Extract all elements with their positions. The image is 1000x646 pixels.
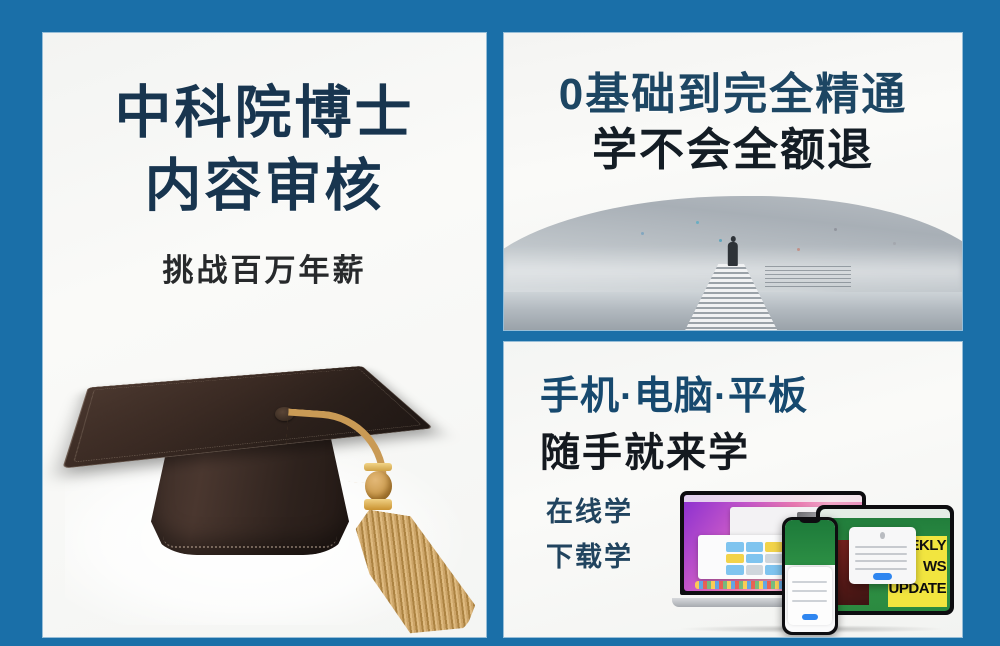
sheet-line [792,600,826,602]
tablet-topbar [820,509,950,518]
right-bottom-headline-line-1: 手机·电脑·平板 [540,372,962,423]
scene-caption-lines [765,266,851,290]
sheet-line [792,581,826,583]
right-top-headline: 0基础到完全精通 学不会全额退 [504,67,962,179]
bullet-online-learning: 在线学 [546,490,633,535]
bullet-download-learning: 下载学 [546,535,633,580]
right-bottom-headline-line-2: 随手就来学 [540,427,962,479]
phone-notch [799,517,821,523]
app-tile [746,554,763,564]
stairs-landscape-image [504,194,962,330]
sparkle-dot [834,228,837,231]
app-tile [765,542,782,552]
app-tile [765,565,782,575]
right-top-headline-line-1: 0基础到完全精通 [504,67,962,122]
promo-poster: 中科院博士 内容审核 挑战百万年薪 0基础到完全精通 学不会全额退 [0,0,1000,646]
person-silhouette [728,242,738,266]
right-bottom-bullet-list: 在线学 下载学 [546,490,633,579]
phone-sheet-dialog [788,567,832,625]
right-bottom-panel: 手机·电脑·平板 随手就来学 在线学 下载学 [504,342,962,637]
left-panel-headline: 中科院博士 内容审核 [43,77,486,223]
app-tile [726,565,743,575]
left-headline-line-1: 中科院博士 [43,77,486,150]
right-bottom-headline: 手机·电脑·平板 随手就来学 [504,342,962,479]
tassel-band-lower [364,499,392,510]
tablet-dialog [849,527,917,584]
phone-hero-area [785,520,835,565]
app-tile [746,542,763,552]
tablet-word-line-2: WS [923,559,946,574]
right-top-headline-line-2: 学不会全额退 [504,122,962,179]
phone-device [782,517,838,635]
app-tile [765,554,782,564]
graduation-cap-icon [43,315,486,637]
dialog-line [855,546,906,548]
laptop-menubar [684,495,862,502]
dialog-line [855,560,906,562]
app-tile [746,565,763,575]
right-top-panel: 0基础到完全精通 学不会全额退 [504,33,962,330]
dialog-line [855,553,906,555]
left-panel-subtitle: 挑战百万年薪 [43,245,486,290]
tablet-screen: EKLY WS UPDATE [820,509,950,611]
phone-screen [785,520,835,632]
dialog-line [855,568,906,570]
left-panel: 中科院博士 内容审核 挑战百万年薪 [43,33,486,637]
tassel-band-upper [364,463,392,471]
left-headline-line-2: 内容审核 [43,150,486,223]
dialog-primary-button [873,573,892,580]
tassel-knot [365,471,392,501]
sheet-primary-button [802,614,818,620]
app-tile [726,554,743,564]
devices-illustration: EKLY WS UPDATE [672,479,954,631]
sparkle-dot [893,242,896,245]
app-tile [726,542,743,552]
sheet-line [792,590,826,592]
